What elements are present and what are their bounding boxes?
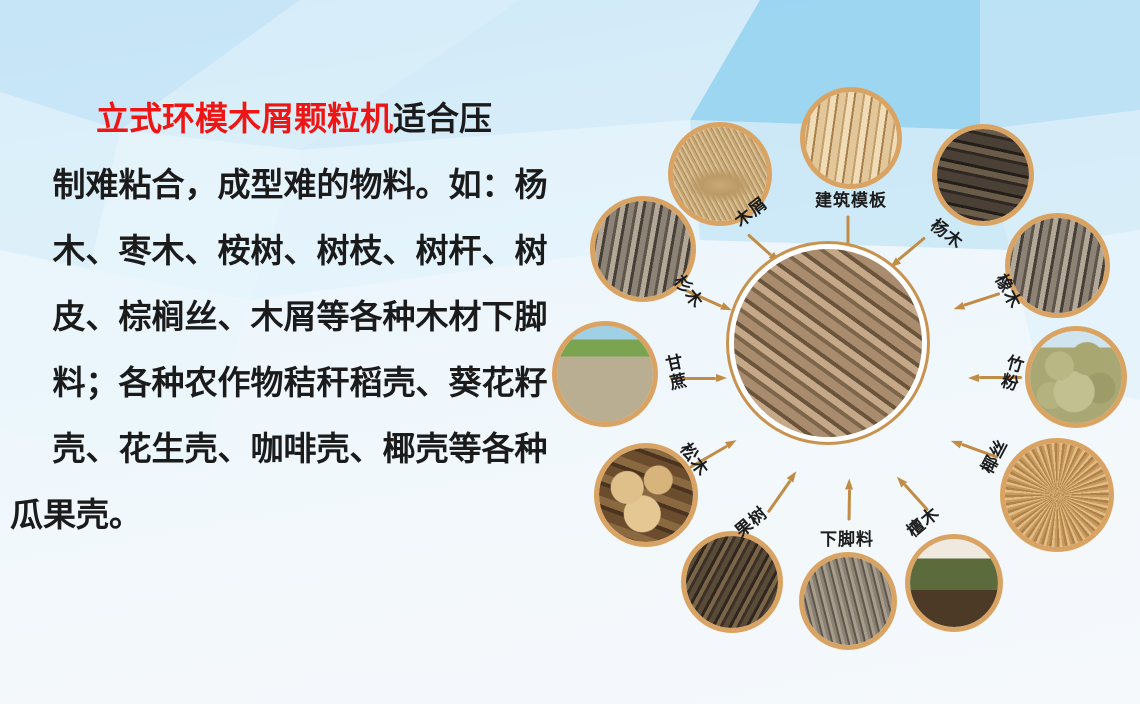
description-line-1: 立式环模木屑颗粒机适合压: [0, 86, 600, 152]
node-sugarcane[interactable]: [552, 321, 658, 427]
arrow-fruittree: [764, 469, 800, 515]
label-scrap: 下脚料: [820, 525, 874, 550]
poplar-photo: [937, 129, 1029, 221]
product-name-highlight: 立式环模木屑颗粒机: [96, 99, 393, 138]
node-formwork[interactable]: [800, 87, 902, 189]
description-line-7: 瓜果壳。: [0, 482, 600, 548]
node-bamboo[interactable]: [1025, 326, 1127, 428]
node-poplar[interactable]: [932, 124, 1034, 226]
formwork-photo: [805, 92, 897, 184]
arrow-oak: [952, 289, 1001, 313]
description-line-5: 料；各种农作物秸秆稻壳、葵花籽: [0, 350, 600, 416]
sandalwood-photo: [910, 539, 998, 627]
label-sugarcane: 甘蔗: [658, 352, 690, 394]
description-line-3: 木、枣木、桉树、树枝、树杆、树: [0, 218, 600, 284]
material-radial-diagram: 木屑 建筑模板 杨木 橡木 竹粉 椰丝 檀木 下脚料 果树 松木: [580, 78, 1140, 648]
description-line-2: 制难粘合，成型难的物料。如：杨: [0, 152, 600, 218]
node-center-wood-pellets[interactable]: [726, 241, 930, 445]
node-sandalwood[interactable]: [905, 534, 1003, 632]
node-coir[interactable]: [1000, 438, 1114, 552]
description-line-4: 皮、棕榈丝、木屑等各种木材下脚: [0, 284, 600, 350]
bamboo-photo: [1030, 331, 1122, 423]
label-formwork: 建筑模板: [815, 186, 887, 211]
scrap-photo: [804, 557, 892, 645]
label-bamboo: 竹粉: [993, 351, 1028, 394]
description-line-1-rest: 适合压: [393, 99, 492, 138]
wood-pellets-photo: [734, 249, 922, 437]
coir-photo: [1005, 443, 1109, 547]
pine-photo: [599, 448, 693, 542]
description-text: 立式环模木屑颗粒机适合压 制难粘合，成型难的物料。如：杨 木、枣木、桉树、树枝、…: [0, 86, 600, 548]
label-sandalwood: 檀木: [900, 499, 944, 541]
fruittree-photo: [686, 536, 778, 628]
node-scrap[interactable]: [799, 552, 897, 650]
description-line-6: 壳、花生壳、咖啡壳、椰壳等各种: [0, 416, 600, 482]
node-fruittree[interactable]: [681, 531, 783, 633]
sugarcane-photo: [557, 326, 653, 422]
arrow-scrap: [845, 478, 855, 520]
poster-canvas: 立式环模木屑颗粒机适合压 制难粘合，成型难的物料。如：杨 木、枣木、桉树、树枝、…: [0, 0, 1140, 704]
